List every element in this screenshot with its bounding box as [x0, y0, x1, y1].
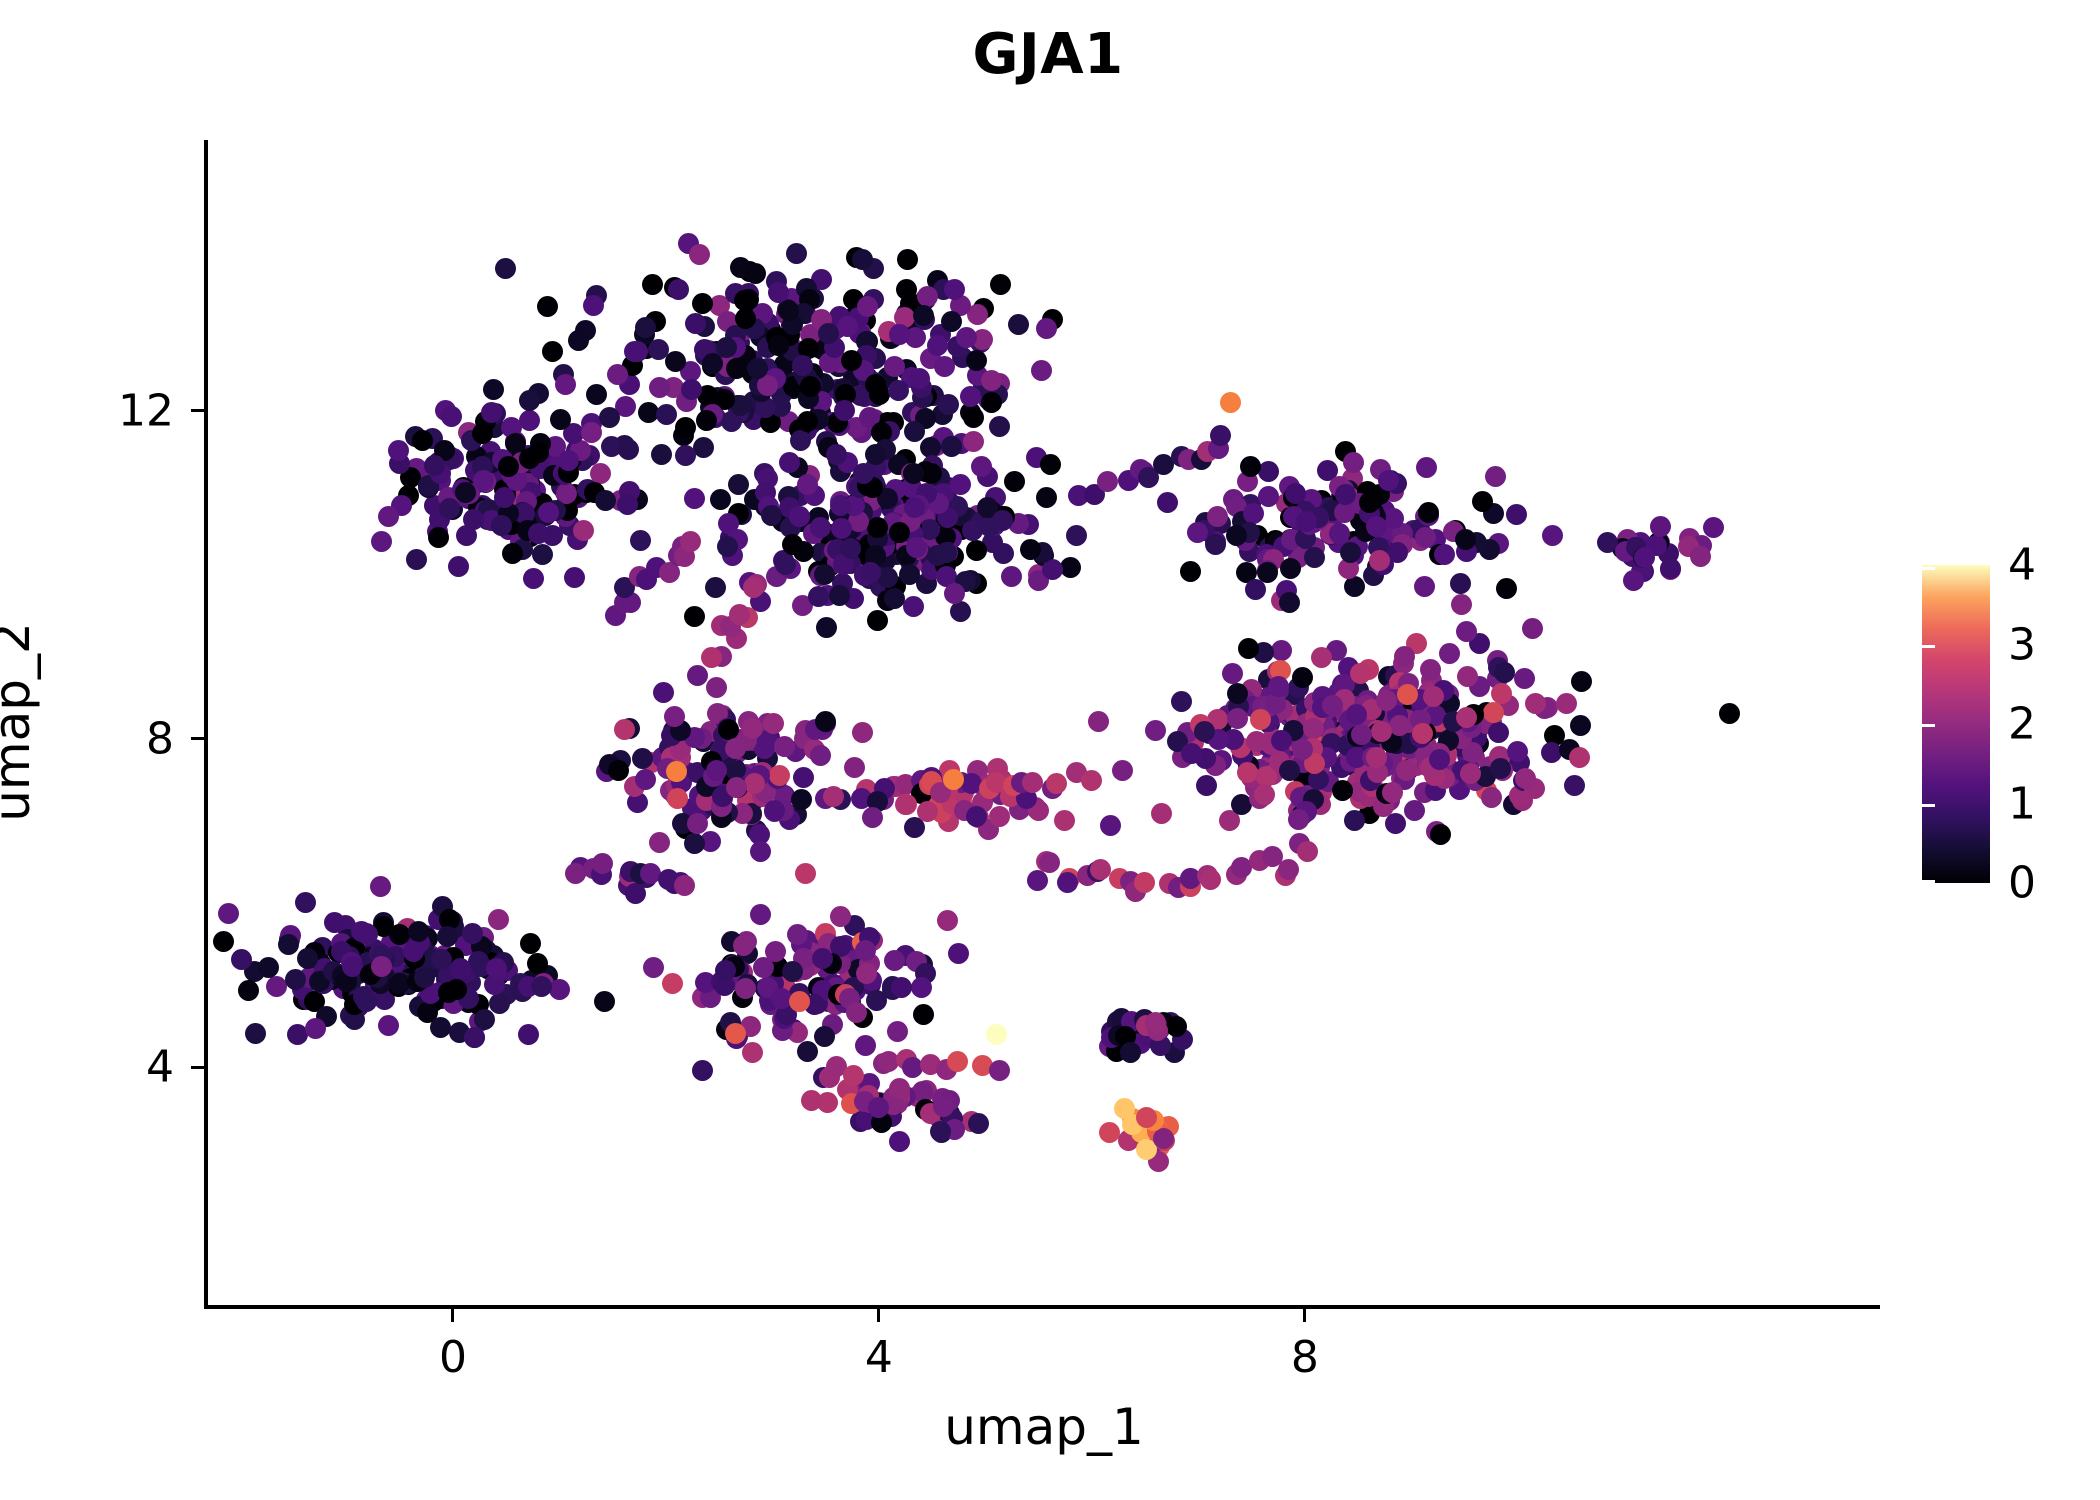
- x-axis-spine: [204, 1305, 1880, 1309]
- scatter-point: [1166, 1016, 1187, 1037]
- scatter-point: [865, 444, 886, 465]
- scatter-point: [424, 455, 445, 476]
- scatter-point: [581, 422, 602, 443]
- scatter-point: [549, 979, 570, 1000]
- scatter-point: [689, 244, 710, 265]
- scatter-point: [1120, 1042, 1141, 1063]
- scatter-point: [789, 991, 810, 1012]
- scatter-point: [814, 564, 835, 585]
- colorbar-tick-label: 2: [2008, 699, 2036, 750]
- scatter-point: [662, 973, 683, 994]
- scatter-point: [285, 969, 306, 990]
- scatter-point: [710, 489, 731, 510]
- colorbar-tick-mark: [1909, 880, 1922, 883]
- scatter-point: [1404, 800, 1425, 821]
- scatter-point: [519, 390, 540, 411]
- scatter-point: [829, 585, 850, 606]
- scatter-point: [1268, 676, 1289, 697]
- scatter-point: [1227, 708, 1248, 729]
- scatter-point: [481, 402, 502, 423]
- scatter-point: [1494, 662, 1515, 683]
- scatter-point: [1278, 859, 1299, 880]
- scatter-point: [956, 327, 977, 348]
- scatter-point: [1359, 492, 1380, 513]
- scatter-point: [462, 923, 483, 944]
- scatter-point: [792, 355, 813, 376]
- scatter-point: [1157, 492, 1178, 513]
- scatter-point: [1004, 471, 1025, 492]
- scatter-point: [1271, 640, 1292, 661]
- scatter-point: [1542, 525, 1563, 546]
- scatter-point: [887, 1021, 908, 1042]
- scatter-point: [1460, 763, 1481, 784]
- scatter-point: [1329, 523, 1350, 544]
- scatter-point: [1434, 544, 1455, 565]
- scatter-point: [1081, 770, 1102, 791]
- scatter-point: [653, 682, 674, 703]
- scatter-point: [1258, 486, 1279, 507]
- scatter-point: [715, 960, 736, 981]
- scatter-point: [989, 806, 1010, 827]
- scatter-point: [295, 892, 316, 913]
- scatter-point: [889, 1131, 910, 1152]
- scatter-point: [351, 921, 372, 942]
- scatter-point: [862, 807, 883, 828]
- scatter-point: [1031, 360, 1052, 381]
- scatter-point: [941, 436, 962, 457]
- scatter-point: [1472, 491, 1493, 512]
- scatter-point: [735, 308, 756, 329]
- scatter-point: [1369, 550, 1390, 571]
- scatter-point: [1488, 722, 1509, 743]
- scatter-point: [782, 961, 803, 982]
- scatter-point: [592, 853, 613, 874]
- scatter-point: [750, 841, 771, 862]
- scatter-point: [1322, 695, 1343, 716]
- scatter-point: [1187, 522, 1208, 543]
- scatter-point: [1496, 578, 1517, 599]
- scatter-point: [635, 769, 656, 790]
- scatter-point: [968, 1113, 989, 1134]
- scatter-point: [1366, 516, 1387, 537]
- scatter-point: [651, 444, 672, 465]
- scatter-point: [990, 274, 1011, 295]
- scatter-point: [853, 463, 874, 484]
- scatter-point: [656, 404, 677, 425]
- scatter-point: [856, 963, 877, 984]
- scatter-point: [738, 289, 759, 310]
- scatter-point: [527, 953, 548, 974]
- scatter-point: [795, 863, 816, 884]
- scatter-point: [716, 337, 737, 358]
- scatter-point: [1457, 666, 1478, 687]
- scatter-point: [550, 409, 571, 430]
- scatter-point: [1297, 841, 1318, 862]
- scatter-point: [1415, 527, 1436, 548]
- scatter-point: [412, 430, 433, 451]
- scatter-point: [857, 296, 878, 317]
- scatter-point: [909, 368, 930, 389]
- scatter-point: [388, 440, 409, 461]
- scatter-point: [1650, 516, 1671, 537]
- scatter-point: [1039, 852, 1060, 873]
- scatter-point: [1099, 1122, 1120, 1143]
- scatter-point: [1343, 452, 1364, 473]
- scatter-point: [627, 341, 648, 362]
- scatter-point: [594, 991, 615, 1012]
- plot-title: GJA1: [0, 22, 2100, 87]
- scatter-point: [1280, 558, 1301, 579]
- scatter-point: [599, 407, 620, 428]
- scatter-point: [774, 736, 795, 757]
- scatter-point: [668, 279, 689, 300]
- scatter-point: [927, 335, 948, 356]
- scatter-point: [1180, 561, 1201, 582]
- colorbar-tick-mark: [1909, 724, 1922, 727]
- scatter-point: [867, 517, 888, 538]
- colorbar-tick-mark: [1922, 724, 1935, 727]
- scatter-point: [1254, 784, 1275, 805]
- scatter-point: [1222, 663, 1243, 684]
- scatter-point: [1046, 773, 1067, 794]
- scatter-point: [537, 296, 558, 317]
- scatter-point: [733, 935, 754, 956]
- scatter-point: [889, 324, 910, 345]
- scatter-point: [884, 588, 905, 609]
- scatter-point: [823, 786, 844, 807]
- scatter-point: [1366, 747, 1387, 768]
- scatter-point: [810, 517, 831, 538]
- scatter-point: [439, 498, 460, 519]
- figure-canvas: GJA1 048 4812 umap_1 umap_2 43210: [0, 0, 2100, 1500]
- scatter-point: [1397, 684, 1418, 705]
- scatter-point: [495, 258, 516, 279]
- scatter-point: [1036, 318, 1057, 339]
- scatter-point: [1292, 667, 1313, 688]
- scatter-point: [981, 392, 1002, 413]
- scatter-point: [1196, 775, 1217, 796]
- scatter-point: [1571, 671, 1592, 692]
- x-axis-label: umap_1: [208, 1398, 1880, 1456]
- scatter-point: [1022, 772, 1043, 793]
- scatter-point: [1414, 576, 1435, 597]
- scatter-point: [258, 957, 279, 978]
- scatter-point: [989, 416, 1010, 437]
- scatter-point: [1420, 659, 1441, 680]
- scatter-point: [1090, 859, 1111, 880]
- scatter-point: [786, 243, 807, 264]
- scatter-point: [992, 510, 1013, 531]
- scatter-point: [1311, 647, 1332, 668]
- scatter-point: [1485, 466, 1506, 487]
- scatter-point: [1258, 461, 1279, 482]
- scatter-point: [763, 713, 784, 734]
- scatter-point: [649, 377, 670, 398]
- scatter-point: [430, 1017, 451, 1038]
- scatter-point: [378, 1015, 399, 1036]
- scatter-point: [305, 1018, 326, 1039]
- scatter-point: [950, 474, 971, 495]
- scatter-point: [370, 876, 391, 897]
- scatter-point: [542, 341, 563, 362]
- scatter-point: [986, 1024, 1007, 1045]
- scatter-point: [1690, 546, 1711, 567]
- scatter-point: [608, 760, 629, 781]
- scatter-point: [1481, 787, 1502, 808]
- scatter-point: [1378, 470, 1399, 491]
- scatter-point: [431, 949, 452, 970]
- scatter-point: [371, 956, 392, 977]
- scatter-point: [531, 976, 552, 997]
- scatter-point: [938, 394, 959, 415]
- scatter-point: [1114, 1098, 1135, 1119]
- scatter-point: [1060, 557, 1081, 578]
- scatter-point: [989, 1060, 1010, 1081]
- scatter-point: [930, 1121, 951, 1142]
- scatter-point: [1243, 503, 1264, 524]
- x-tick-label: 4: [865, 1332, 893, 1383]
- scatter-point: [1423, 686, 1444, 707]
- scatter-point: [891, 977, 912, 998]
- scatter-point: [406, 549, 427, 570]
- scatter-point: [583, 295, 604, 316]
- scatter-point: [437, 926, 458, 947]
- y-tick-label: 8: [146, 713, 174, 764]
- scatter-point: [1346, 704, 1367, 725]
- scatter-point: [790, 430, 811, 451]
- y-tick-mark: [191, 409, 204, 412]
- scatter-point: [963, 407, 984, 428]
- scatter-point: [692, 1060, 713, 1081]
- scatter-point: [403, 941, 424, 962]
- scatter-point: [906, 537, 927, 558]
- scatter-point: [947, 1051, 968, 1072]
- scatter-point: [801, 1090, 822, 1111]
- colorbar-tick-mark: [1922, 567, 1935, 570]
- x-tick-mark: [1303, 1309, 1306, 1322]
- scatter-point: [1088, 711, 1109, 732]
- plot-axes: 048 4812 umap_1 umap_2: [208, 140, 1880, 1305]
- scatter-point: [725, 738, 746, 759]
- scatter-point: [520, 933, 541, 954]
- scatter-point: [1483, 702, 1504, 723]
- scatter-point: [1057, 872, 1078, 893]
- scatter-point: [1456, 707, 1477, 728]
- scatter-point: [464, 1027, 485, 1048]
- scatter-point: [782, 534, 803, 555]
- scatter-point: [630, 530, 651, 551]
- scatter-point: [1112, 760, 1133, 781]
- x-tick-label: 8: [1291, 1332, 1319, 1383]
- scatter-point: [791, 789, 812, 810]
- scatter-point: [1456, 621, 1477, 642]
- scatter-point: [1430, 824, 1451, 845]
- scatter-point: [818, 323, 839, 344]
- scatter-point: [846, 1002, 867, 1023]
- scatter-point: [684, 488, 705, 509]
- scatter-point: [684, 833, 705, 854]
- x-tick-mark: [877, 1309, 880, 1322]
- scatter-point: [218, 903, 239, 924]
- scatter-point: [1564, 775, 1585, 796]
- scatter-point: [1226, 525, 1247, 546]
- x-tick-label: 0: [439, 1332, 467, 1383]
- scatter-point: [1001, 566, 1022, 587]
- scatter-point: [1340, 542, 1361, 563]
- scatter-point: [441, 406, 462, 427]
- scatter-point: [1719, 703, 1740, 724]
- scatter-point: [917, 801, 938, 822]
- scatter-point: [502, 543, 523, 564]
- scatter-point: [1382, 782, 1403, 803]
- scatter-point: [705, 577, 726, 598]
- scatter-point: [665, 351, 686, 372]
- scatter-point: [841, 350, 862, 371]
- scatter-point: [573, 520, 594, 541]
- scatter-point: [768, 335, 789, 356]
- scatter-point: [966, 350, 987, 371]
- colorbar-tick-label: 0: [2008, 858, 2036, 909]
- scatter-point: [1344, 576, 1365, 597]
- scatter-point: [238, 980, 259, 1001]
- scatter-point: [1040, 454, 1061, 475]
- scatter-point: [840, 538, 861, 559]
- scatter-point: [1020, 539, 1041, 560]
- scatter-point: [1210, 425, 1231, 446]
- scatter-point: [1036, 487, 1057, 508]
- scatter-point: [1451, 594, 1472, 615]
- scatter-point: [904, 421, 925, 442]
- scatter-point: [769, 765, 790, 786]
- colorbar-tick-mark: [1909, 567, 1922, 570]
- scatter-point: [778, 300, 799, 321]
- scatter-point: [674, 875, 695, 896]
- scatter-point: [742, 1042, 763, 1063]
- scatter-point: [701, 647, 722, 668]
- colorbar-tick-mark: [1922, 880, 1935, 883]
- scatter-point: [555, 374, 576, 395]
- scatter-point: [1351, 724, 1372, 745]
- scatter-point: [816, 617, 837, 638]
- scatter-point: [948, 943, 969, 964]
- scatter-point: [564, 567, 585, 588]
- scatter-point: [744, 773, 765, 794]
- scatter-point: [903, 596, 924, 617]
- scatter-point: [1200, 869, 1221, 890]
- scatter-point: [455, 482, 476, 503]
- colorbar-tick-mark: [1922, 804, 1935, 807]
- scatter-points-layer: [208, 140, 1880, 1305]
- scatter-point: [519, 448, 540, 469]
- scatter-point: [981, 370, 1002, 391]
- scatter-point: [1522, 618, 1543, 639]
- scatter-point: [642, 274, 663, 295]
- scatter-point: [1151, 803, 1172, 824]
- scatter-point: [1623, 570, 1644, 591]
- scatter-point: [1332, 780, 1353, 801]
- scatter-point: [1237, 762, 1258, 783]
- scatter-point: [607, 364, 628, 385]
- scatter-point: [855, 940, 876, 961]
- scatter-point: [245, 1023, 266, 1044]
- scatter-point: [1569, 747, 1590, 768]
- scatter-point: [1066, 525, 1087, 546]
- scatter-point: [899, 564, 920, 585]
- scatter-point: [725, 1023, 746, 1044]
- scatter-point: [680, 531, 701, 552]
- scatter-point: [489, 993, 510, 1014]
- scatter-point: [936, 542, 957, 563]
- scatter-point: [941, 311, 962, 332]
- scatter-point: [944, 583, 965, 604]
- scatter-point: [1387, 542, 1408, 563]
- scatter-point: [614, 719, 635, 740]
- scatter-point: [1515, 768, 1536, 789]
- scatter-point: [1394, 646, 1415, 667]
- scatter-point: [743, 577, 764, 598]
- scatter-point: [1570, 715, 1591, 736]
- scatter-point: [1207, 506, 1228, 527]
- scatter-point: [865, 374, 886, 395]
- scatter-point: [378, 506, 399, 527]
- scatter-point: [1279, 760, 1300, 781]
- scatter-point: [1304, 547, 1325, 568]
- scatter-point: [966, 540, 987, 561]
- scatter-point: [1205, 534, 1226, 555]
- scatter-point: [1245, 579, 1266, 600]
- scatter-point: [1296, 511, 1317, 532]
- scatter-point: [860, 562, 881, 583]
- scatter-point: [1054, 810, 1075, 831]
- scatter-point: [1134, 872, 1155, 893]
- scatter-point: [884, 950, 905, 971]
- scatter-point: [830, 495, 851, 516]
- scatter-point: [913, 305, 934, 326]
- scatter-point: [675, 445, 696, 466]
- scatter-point: [1344, 810, 1365, 831]
- scatter-point: [888, 380, 909, 401]
- scatter-point: [1008, 314, 1029, 335]
- scatter-point: [532, 544, 553, 565]
- scatter-point: [797, 1041, 818, 1062]
- scatter-point: [494, 487, 515, 508]
- scatter-point: [595, 490, 616, 511]
- scatter-point: [729, 604, 750, 625]
- y-tick-mark: [191, 1066, 204, 1069]
- scatter-point: [213, 931, 234, 952]
- scatter-point: [696, 410, 717, 431]
- scatter-point: [538, 502, 559, 523]
- scatter-point: [664, 706, 685, 727]
- y-tick-mark: [191, 737, 204, 740]
- scatter-point: [1385, 813, 1406, 834]
- scatter-point: [473, 470, 494, 491]
- scatter-point: [852, 722, 873, 743]
- colorbar-tick-mark: [1909, 645, 1922, 648]
- scatter-point: [1279, 592, 1300, 613]
- scatter-point: [867, 610, 888, 631]
- scatter-point: [913, 1004, 934, 1025]
- scatter-point: [843, 1065, 864, 1086]
- scatter-point: [586, 384, 607, 405]
- scatter-point: [937, 910, 958, 931]
- scatter-point: [371, 531, 392, 552]
- scatter-point: [702, 353, 723, 374]
- scatter-point: [735, 978, 756, 999]
- scatter-point: [1285, 483, 1306, 504]
- scatter-point: [897, 249, 918, 270]
- scatter-point: [617, 494, 638, 515]
